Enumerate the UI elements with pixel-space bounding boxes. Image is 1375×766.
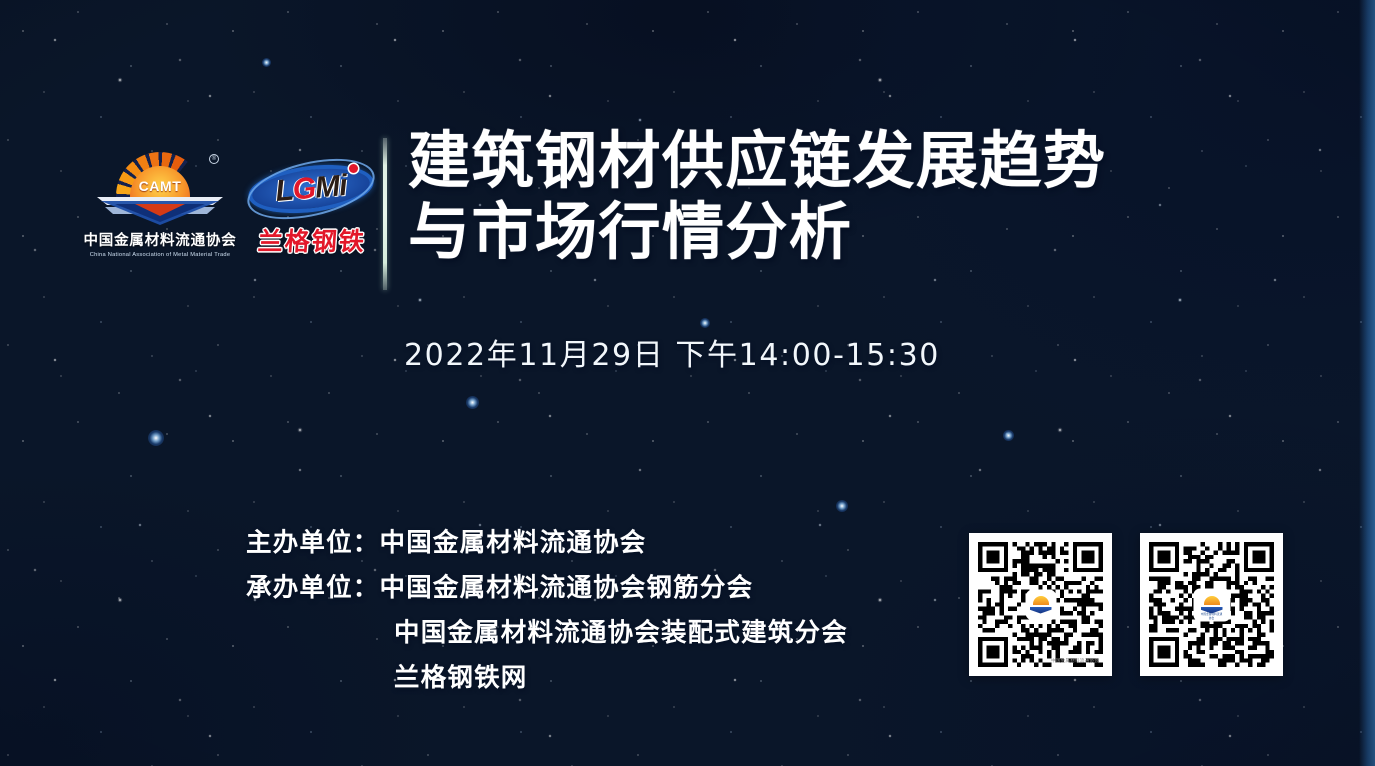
page-title: 建筑钢材供应链发展趋势 与市场行情分析: [408, 125, 1238, 267]
lgmi-sun-icon: [1030, 595, 1052, 615]
lgmi-sun-wave-icon: [1030, 606, 1052, 614]
camt-wing-icon: [95, 192, 225, 226]
lgmi-logo: LGMi 兰格钢铁: [248, 160, 376, 260]
lgmi-letter-i: i: [338, 169, 348, 203]
title-line-1: 建筑钢材供应链发展趋势: [408, 125, 1238, 196]
camt-mini-label: 中国金属材料流通协会: [1201, 612, 1223, 620]
poster-canvas: CAMT ® 中国金属材料流通协会 China National Associa…: [0, 0, 1375, 766]
camt-name-en: China National Association of Metal Mate…: [74, 252, 245, 258]
qr-code-lgmi[interactable]: 中国金属材料流通协会: [969, 533, 1112, 676]
camt-emblem-icon: CAMT ®: [95, 152, 225, 226]
organizer-line-coorg-2: 中国金属材料流通协会装配式建筑分会: [246, 611, 848, 656]
qr-code-lgmi-canvas: 中国金属材料流通协会: [978, 542, 1103, 667]
lgmi-emblem-icon: LGMi: [248, 160, 374, 218]
camt-logo-icon: 中国金属材料流通协会: [1201, 595, 1223, 615]
title-line-2: 与市场行情分析: [408, 196, 1238, 267]
organizer-line-coorg-1: 承办单位：中国金属材料流通协会钢筋分会: [246, 566, 848, 611]
event-datetime: 2022年11月29日 下午14:00-15:30: [404, 330, 940, 374]
title-divider: [383, 138, 387, 290]
qr-code-camt[interactable]: 中国金属材料流通协会: [1140, 533, 1283, 676]
organizer-line-coorg-3: 兰格钢铁网: [246, 656, 848, 701]
lgmi-name-cn: 兰格钢铁: [247, 222, 378, 258]
header-row: CAMT ® 中国金属材料流通协会 China National Associa…: [0, 0, 1375, 310]
lgmi-dot-icon: [349, 164, 358, 173]
camt-logo: CAMT ® 中国金属材料流通协会 China National Associa…: [76, 152, 244, 260]
lgmi-sun-arc-icon: [1033, 596, 1049, 605]
camt-mini-sun-icon: [1204, 596, 1220, 605]
lgmi-letter-g: G: [291, 172, 316, 207]
qr-code-camt-canvas: 中国金属材料流通协会: [1149, 542, 1274, 667]
camt-name-cn: 中国金属材料流通协会: [76, 229, 244, 250]
camt-registered-icon: ®: [209, 154, 219, 164]
lgmi-mark-text: LGMi: [247, 167, 375, 212]
qr-code-lgmi-center-logo: [1027, 591, 1055, 619]
organizer-line-host: 主办单位：中国金属材料流通协会: [246, 521, 848, 566]
qr-code-camt-center-logo: 中国金属材料流通协会: [1195, 590, 1229, 620]
lgmi-letter-m: M: [314, 170, 341, 205]
qr-code-lgmi-watermark: 中国金属材料流通协会: [1051, 658, 1099, 664]
organizer-block: 主办单位：中国金属材料流通协会 承办单位：中国金属材料流通协会钢筋分会 中国金属…: [246, 521, 848, 701]
